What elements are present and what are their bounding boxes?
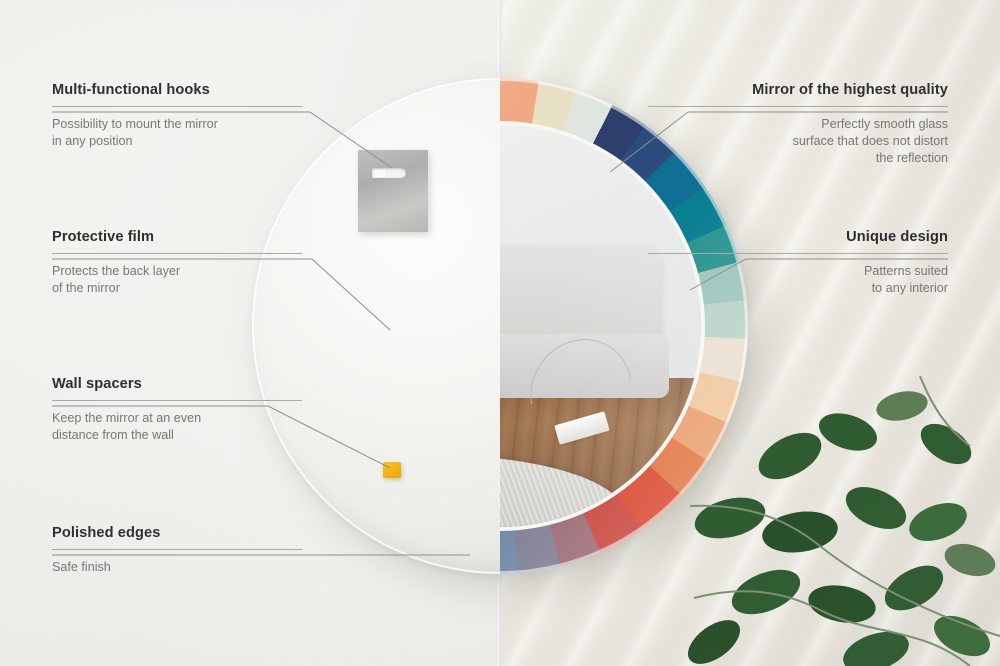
infographic-stage: Multi-functional hooks Possibility to mo… <box>0 0 1000 666</box>
callout-protective-film: Protective film Protects the back layer … <box>52 229 302 297</box>
callout-rule <box>52 253 302 254</box>
callout-polished-edges: Polished edges Safe finish <box>52 525 302 576</box>
callout-rule <box>52 400 302 401</box>
callout-rule <box>648 106 948 107</box>
hook-mounting-plate <box>358 150 428 232</box>
callout-rule <box>52 549 302 550</box>
callout-body-line1: Patterns suited <box>648 263 948 280</box>
callout-title: Protective film <box>52 229 302 245</box>
callout-unique-design: Unique design Patterns suited to any int… <box>648 229 948 297</box>
callout-title: Wall spacers <box>52 376 302 392</box>
callout-title: Polished edges <box>52 525 302 541</box>
callout-wall-spacers: Wall spacers Keep the mirror at an even … <box>52 376 302 444</box>
callout-title: Unique design <box>648 229 948 245</box>
callout-rule <box>648 253 948 254</box>
callout-body-line1: Keep the mirror at an even <box>52 410 302 427</box>
callout-body-line3: the reflection <box>648 150 948 167</box>
callout-title: Multi-functional hooks <box>52 82 302 98</box>
callout-multi-functional-hooks: Multi-functional hooks Possibility to mo… <box>52 82 302 150</box>
hook-keyhole-round <box>374 170 385 177</box>
callout-body-line2: surface that does not distort <box>648 133 948 150</box>
callout-body-line2: of the mirror <box>52 280 302 297</box>
callout-body-line2: in any position <box>52 133 302 150</box>
callout-body-line2: to any interior <box>648 280 948 297</box>
callout-title: Mirror of the highest quality <box>648 82 948 98</box>
yellow-spacer <box>383 462 401 478</box>
callout-body-line1: Perfectly smooth glass <box>648 116 948 133</box>
callout-body-line2: distance from the wall <box>52 427 302 444</box>
callout-rule <box>52 106 302 107</box>
foliage-decoration <box>670 336 1000 666</box>
callout-body-line1: Protects the back layer <box>52 263 302 280</box>
callout-body-line1: Safe finish <box>52 559 302 576</box>
callout-body-line1: Possibility to mount the mirror <box>52 116 302 133</box>
callout-mirror-highest-quality: Mirror of the highest quality Perfectly … <box>648 82 948 167</box>
